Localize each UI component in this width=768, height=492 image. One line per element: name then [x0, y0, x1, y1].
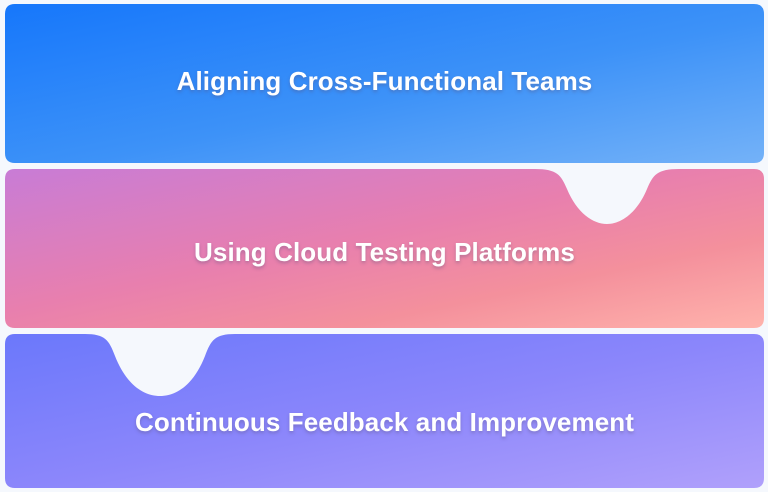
card-using-cloud-testing-platforms[interactable]: Using Cloud Testing Platforms [5, 169, 764, 328]
card-continuous-feedback-and-improvement[interactable]: Continuous Feedback and Improvement [5, 334, 764, 488]
card-aligning-cross-functional-teams[interactable]: Aligning Cross-Functional Teams [5, 4, 764, 163]
card-1-title: Aligning Cross-Functional Teams [177, 66, 593, 97]
card-stack: Aligning Cross-Functional Teams Using Cl… [0, 0, 768, 492]
card-3-title: Continuous Feedback and Improvement [135, 407, 634, 438]
card-2-title: Using Cloud Testing Platforms [194, 237, 575, 268]
